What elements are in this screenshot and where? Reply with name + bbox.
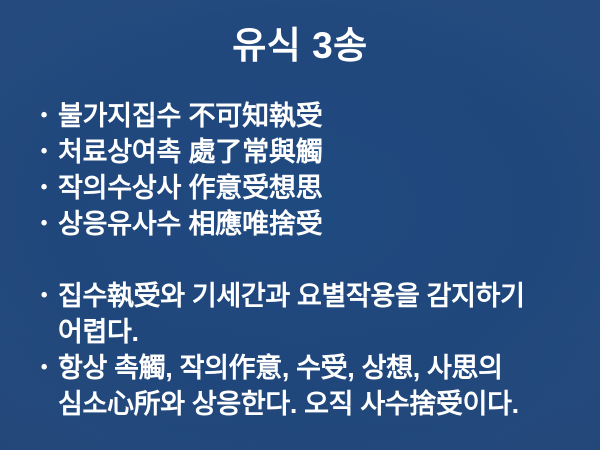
slide-body: • 불가지집수 不可知執受 • 처료상여촉 處了常與觸 • 작의수상사 作意受想… [30, 98, 570, 422]
list-item-label: 처료상여촉 處了常與觸 [58, 134, 570, 170]
list-item-label: 작의수상사 作意受想思 [58, 170, 570, 206]
list-item: • 상응유사수 相應唯捨受 [30, 206, 570, 242]
list-item-label: 집수執受와 기세간과 요별작용을 감지하기 어렵다. [58, 278, 570, 350]
bullet-point-icon: • [38, 170, 50, 206]
list-item-label: 불가지집수 不可知執受 [58, 98, 570, 134]
list-item: • 항상 촉觸, 작의作意, 수受, 상想, 사思의 심소心所와 상응한다. 오… [30, 350, 570, 422]
list-item-label: 상응유사수 相應唯捨受 [58, 206, 570, 242]
list-item: • 집수執受와 기세간과 요별작용을 감지하기 어렵다. [30, 278, 570, 350]
list-item: • 불가지집수 不可知執受 [30, 98, 570, 134]
page-title: 유식 3송 [0, 26, 600, 67]
bullet-point-icon: • [38, 278, 50, 314]
bullet-point-icon: • [38, 98, 50, 134]
slide-canvas: 유식 3송 • 불가지집수 不可知執受 • 처료상여촉 處了常與觸 • 작의수상… [0, 0, 600, 450]
bullet-point-icon: • [38, 134, 50, 170]
list-item: • 처료상여촉 處了常與觸 [30, 134, 570, 170]
bullet-group-verse-lines: • 불가지집수 不可知執受 • 처료상여촉 處了常與觸 • 작의수상사 作意受想… [30, 98, 570, 242]
bullet-point-icon: • [38, 350, 50, 386]
bullet-group-commentary-lines: • 집수執受와 기세간과 요별작용을 감지하기 어렵다. • 항상 촉觸, 작의… [30, 278, 570, 422]
list-item: • 작의수상사 作意受想思 [30, 170, 570, 206]
list-item-label: 항상 촉觸, 작의作意, 수受, 상想, 사思의 심소心所와 상응한다. 오직 … [58, 350, 570, 422]
bullet-group-spacer [30, 242, 570, 278]
bullet-point-icon: • [38, 206, 50, 242]
